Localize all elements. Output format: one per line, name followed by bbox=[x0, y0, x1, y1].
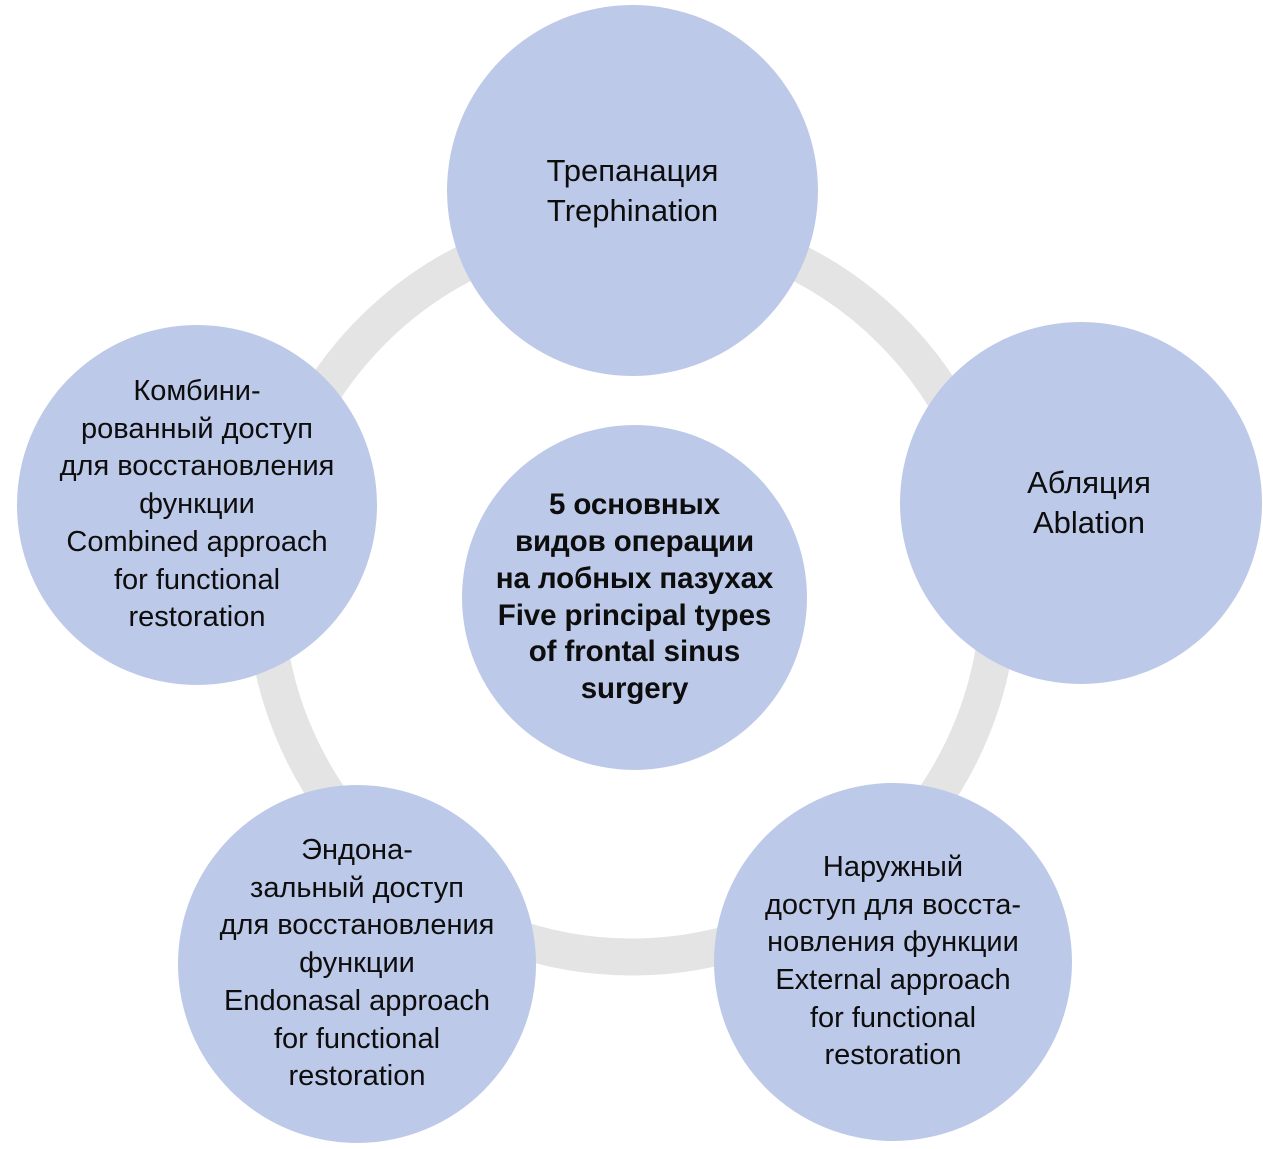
node-endonasal-approach-line-7: restoration bbox=[184, 1058, 530, 1096]
node-external-approach-line-3: новления функции bbox=[720, 924, 1066, 962]
node-combined-approach[interactable]: Комбини- рованный доступ для восстановле… bbox=[17, 325, 377, 685]
center-hub-line-3: на лобных пазухах bbox=[468, 561, 801, 598]
node-trephination-line-1: Трепанация bbox=[453, 151, 812, 191]
node-endonasal-approach-line-1: Эндона- bbox=[184, 832, 530, 870]
center-hub-line-1: 5 основных bbox=[468, 487, 801, 524]
node-combined-approach-label: Комбини- рованный доступ для восстановле… bbox=[17, 373, 377, 637]
cycle-diagram: Трепанация Trephination Абляция Ablation… bbox=[0, 0, 1263, 1149]
node-combined-approach-line-5: Combined approach bbox=[23, 524, 371, 562]
center-hub-line-2: видов операции bbox=[468, 524, 801, 561]
node-combined-approach-line-3: для восстановления bbox=[23, 448, 371, 486]
node-combined-approach-line-7: restoration bbox=[23, 599, 371, 637]
node-endonasal-approach-line-3: для восстановления bbox=[184, 907, 530, 945]
node-combined-approach-line-6: for functional bbox=[23, 562, 371, 600]
node-combined-approach-line-4: функции bbox=[23, 486, 371, 524]
node-external-approach[interactable]: Наружный доступ для восста- новления фун… bbox=[714, 783, 1072, 1141]
node-endonasal-approach-label: Эндона- зальный доступ для восстановлени… bbox=[178, 832, 536, 1096]
node-endonasal-approach[interactable]: Эндона- зальный доступ для восстановлени… bbox=[178, 785, 536, 1143]
node-external-approach-line-6: restoration bbox=[720, 1037, 1066, 1075]
node-external-approach-line-2: доступ для восста- bbox=[720, 887, 1066, 925]
center-hub-label: 5 основных видов операции на лобных пазу… bbox=[462, 487, 807, 708]
node-endonasal-approach-line-2: зальный доступ bbox=[184, 870, 530, 908]
node-trephination[interactable]: Трепанация Trephination bbox=[447, 5, 818, 376]
node-external-approach-line-5: for functional bbox=[720, 1000, 1066, 1038]
node-ablation-line-1: Абляция bbox=[922, 463, 1256, 503]
center-hub-line-6: surgery bbox=[468, 671, 801, 708]
node-endonasal-approach-line-6: for functional bbox=[184, 1021, 530, 1059]
node-trephination-label: Трепанация Trephination bbox=[447, 151, 818, 230]
node-ablation-label: Абляция Ablation bbox=[900, 463, 1262, 542]
node-ablation-line-2: Ablation bbox=[922, 503, 1256, 543]
node-external-approach-label: Наружный доступ для восста- новления фун… bbox=[714, 849, 1072, 1075]
node-trephination-line-2: Trephination bbox=[453, 191, 812, 231]
center-hub[interactable]: 5 основных видов операции на лобных пазу… bbox=[462, 425, 807, 770]
center-hub-line-4: Five principal types bbox=[468, 598, 801, 635]
node-external-approach-line-4: External approach bbox=[720, 962, 1066, 1000]
node-combined-approach-line-2: рованный доступ bbox=[23, 411, 371, 449]
center-hub-line-5: of frontal sinus bbox=[468, 634, 801, 671]
node-endonasal-approach-line-4: функции bbox=[184, 945, 530, 983]
node-external-approach-line-1: Наружный bbox=[720, 849, 1066, 887]
node-endonasal-approach-line-5: Endonasal approach bbox=[184, 983, 530, 1021]
node-combined-approach-line-1: Комбини- bbox=[23, 373, 371, 411]
node-ablation[interactable]: Абляция Ablation bbox=[900, 322, 1262, 684]
